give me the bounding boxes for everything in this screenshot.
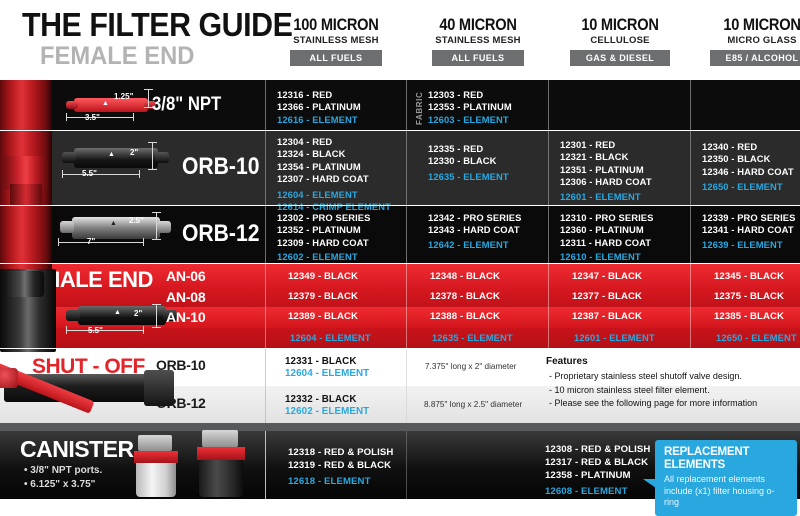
section-title-canister: CANISTER — [20, 436, 134, 463]
cell-orb12-100micron: 12302 - PRO SERIES 12352 - PLATINUM 1230… — [277, 212, 371, 264]
cell-canister-10micron: 12308 - RED & POLISH 12317 - RED & BLACK… — [545, 443, 650, 498]
product-photo-orb12: ▲ — [54, 208, 194, 250]
replacement-elements-callout: REPLACEMENT ELEMENTS All replacement ele… — [655, 440, 797, 516]
cell-male-element-10micron-microglass: 12650 - ELEMENT — [716, 332, 797, 344]
dim-diameter-npt: 1.25" — [114, 92, 133, 101]
cell-an10-40micron: 12388 - BLACK — [430, 311, 500, 323]
canister-neck — [10, 184, 42, 206]
cell-an10-100micron: 12389 - BLACK — [288, 311, 358, 323]
feature-item: - Proprietary stainless steel shutoff va… — [549, 370, 757, 384]
column-header-100-micron: 100 MICRON STAINLESS MESH ALL FUELS — [266, 16, 406, 66]
cell-an06-100micron: 12349 - BLACK — [288, 271, 358, 283]
dim-diameter-male: 2" — [134, 309, 142, 318]
feature-item: - 10 micron stainless steel filter eleme… — [549, 384, 757, 398]
dim-length-orb12: 7" — [87, 237, 95, 246]
column-divider-2-canister — [406, 431, 407, 499]
row-label-an10: AN-10 — [166, 309, 205, 325]
cell-an10-10micron-cellulose: 12387 - BLACK — [572, 311, 642, 323]
canister-bullet: • 3/8" NPT ports. — [24, 464, 102, 478]
replacement-elements-body: All replacement elements include (x1) fi… — [664, 474, 789, 509]
cell-npt-40micron: 12303 - RED 12353 - PLATINUM 12603 - ELE… — [428, 89, 512, 126]
column-divider-1-canister — [265, 431, 266, 499]
shutoff-valve-photo — [0, 358, 194, 420]
column-header-badge: GAS & DIESEL — [570, 50, 670, 66]
dim-length-npt: 3.5" — [85, 113, 100, 122]
cell-an08-10micron-microglass: 12375 - BLACK — [714, 291, 784, 303]
column-divider-2-shutoff — [406, 349, 407, 423]
cell-orb12-40micron: 12342 - PRO SERIES 12343 - HARD COAT 126… — [428, 212, 522, 251]
page-title: THE FILTER GUIDE — [22, 6, 292, 44]
cell-an06-10micron-cellulose: 12347 - BLACK — [572, 271, 642, 283]
dim-diameter-orb12: 2.5" — [129, 216, 144, 225]
cell-an08-10micron-cellulose: 12377 - BLACK — [572, 291, 642, 303]
column-header-badge: E85 / ALCOHOL — [710, 50, 800, 66]
cell-shutoff-orb10-pn: 12331 - BLACK 12604 - ELEMENT — [285, 356, 369, 380]
cell-orb10-10micron-microglass: 12340 - RED 12350 - BLACK 12346 - HARD C… — [702, 141, 794, 194]
column-header-sub: CELLULOSE — [550, 34, 690, 47]
shutoff-dim-orb10: 7.375" long x 2" diameter — [425, 362, 516, 371]
section-title-male-end: MALE END — [42, 267, 153, 293]
column-header-main: 100 MICRON — [276, 16, 396, 33]
column-header-main: 10 MICRON — [560, 16, 680, 33]
shutoff-knob — [0, 368, 18, 388]
cell-an10-10micron-microglass: 12385 - BLACK — [714, 311, 784, 323]
guide-table: ▲ 3.5" 1.25" ▲ 5.5" 2" ▲ — [0, 80, 800, 499]
cell-orb12-10micron-cellulose: 12310 - PRO SERIES 12360 - PLATINUM 1231… — [560, 212, 654, 264]
row-label-npt: 3/8" NPT — [152, 94, 221, 116]
male-end-fitting-photo — [0, 269, 56, 352]
column-divider-3-male — [548, 264, 549, 348]
cell-orb12-10micron-microglass: 12339 - PRO SERIES 12341 - HARD COAT 126… — [702, 212, 796, 251]
column-divider-2-male — [406, 264, 407, 348]
cell-npt-100micron: 12316 - RED 12366 - PLATINUM 12616 - ELE… — [277, 89, 361, 126]
cell-male-element-40micron: 12635 - ELEMENT — [432, 332, 513, 344]
canister-bullets: • 3/8" NPT ports. • 6.125" x 3.75" — [24, 464, 102, 492]
column-header-badge: ALL FUELS — [432, 50, 524, 66]
column-divider-2 — [406, 80, 407, 263]
cell-an08-100micron: 12379 - BLACK — [288, 291, 358, 303]
column-divider-4-male — [690, 264, 691, 348]
canister-photo-polish — [128, 435, 186, 497]
column-divider-1-shutoff — [265, 349, 266, 423]
canister-photo-black — [190, 430, 254, 497]
column-header-10-micron-micro-glass: 10 MICRON MICRO GLASS E85 / ALCOHOL — [692, 16, 800, 66]
replacement-elements-title: REPLACEMENT ELEMENTS — [664, 446, 789, 472]
male-hex-fitting — [4, 271, 44, 297]
row-label-orb10: ORB-10 — [182, 153, 259, 181]
column-header-sub: MICRO GLASS — [692, 34, 800, 47]
dim-diameter-orb10: 2" — [130, 148, 138, 157]
fabric-tag: FABRIC — [415, 89, 424, 125]
cell-orb10-40micron: 12335 - RED 12330 - BLACK 12635 - ELEMEN… — [428, 143, 509, 183]
column-header-badge: ALL FUELS — [290, 50, 382, 66]
cell-shutoff-orb12-pn: 12332 - BLACK 12602 - ELEMENT — [285, 394, 369, 418]
column-header-main: 10 MICRON — [702, 16, 800, 33]
column-header-main: 40 MICRON — [418, 16, 538, 33]
cell-male-element-10micron-cellulose: 12601 - ELEMENT — [574, 332, 655, 344]
row-label-an08: AN-08 — [166, 289, 205, 305]
cell-an06-40micron: 12348 - BLACK — [430, 271, 500, 283]
features-title: Features — [546, 356, 588, 367]
column-header-sub: STAINLESS MESH — [266, 34, 406, 47]
canister-bullet: • 6.125" x 3.75" — [24, 478, 102, 492]
cell-an06-10micron-microglass: 12345 - BLACK — [714, 271, 784, 283]
dim-length-orb10: 5.5" — [82, 169, 97, 178]
row-label-an06: AN-06 — [166, 268, 205, 284]
dim-length-male: 5.5" — [88, 326, 103, 335]
column-header-40-micron: 40 MICRON STAINLESS MESH ALL FUELS — [408, 16, 548, 66]
column-divider-1 — [265, 80, 266, 263]
cell-an08-40micron: 12378 - BLACK — [430, 291, 500, 303]
features-list: - Proprietary stainless steel shutoff va… — [549, 370, 757, 411]
cell-canister-100micron: 12318 - RED & POLISH 12319 - RED & BLACK… — [288, 446, 393, 488]
shutoff-end-cap — [144, 370, 174, 406]
column-divider-4 — [690, 80, 691, 263]
cell-male-element-100micron: 12604 - ELEMENT — [290, 332, 371, 344]
section-subtitle-female-end: FEMALE END — [40, 42, 194, 71]
divider-grey-bar — [0, 423, 800, 431]
feature-item: - Please see the following page for more… — [549, 397, 757, 411]
column-header-sub: STAINLESS MESH — [408, 34, 548, 47]
header: THE FILTER GUIDE FEMALE END 100 MICRON S… — [0, 0, 800, 80]
shutoff-dim-orb12: 8.875" long x 2.5" diameter — [424, 400, 522, 409]
column-divider-1-male — [265, 264, 266, 348]
cell-orb10-100micron: 12304 - RED 12324 - BLACK 12354 - PLATIN… — [277, 136, 391, 213]
column-header-10-micron-cellulose: 10 MICRON CELLULOSE GAS & DIESEL — [550, 16, 690, 66]
row-label-orb12: ORB-12 — [182, 220, 259, 248]
cell-orb10-10micron-cellulose: 12301 - RED 12321 - BLACK 12351 - PLATIN… — [560, 139, 652, 203]
filter-guide-sheet: THE FILTER GUIDE FEMALE END 100 MICRON S… — [0, 0, 800, 499]
column-divider-3 — [548, 80, 549, 263]
